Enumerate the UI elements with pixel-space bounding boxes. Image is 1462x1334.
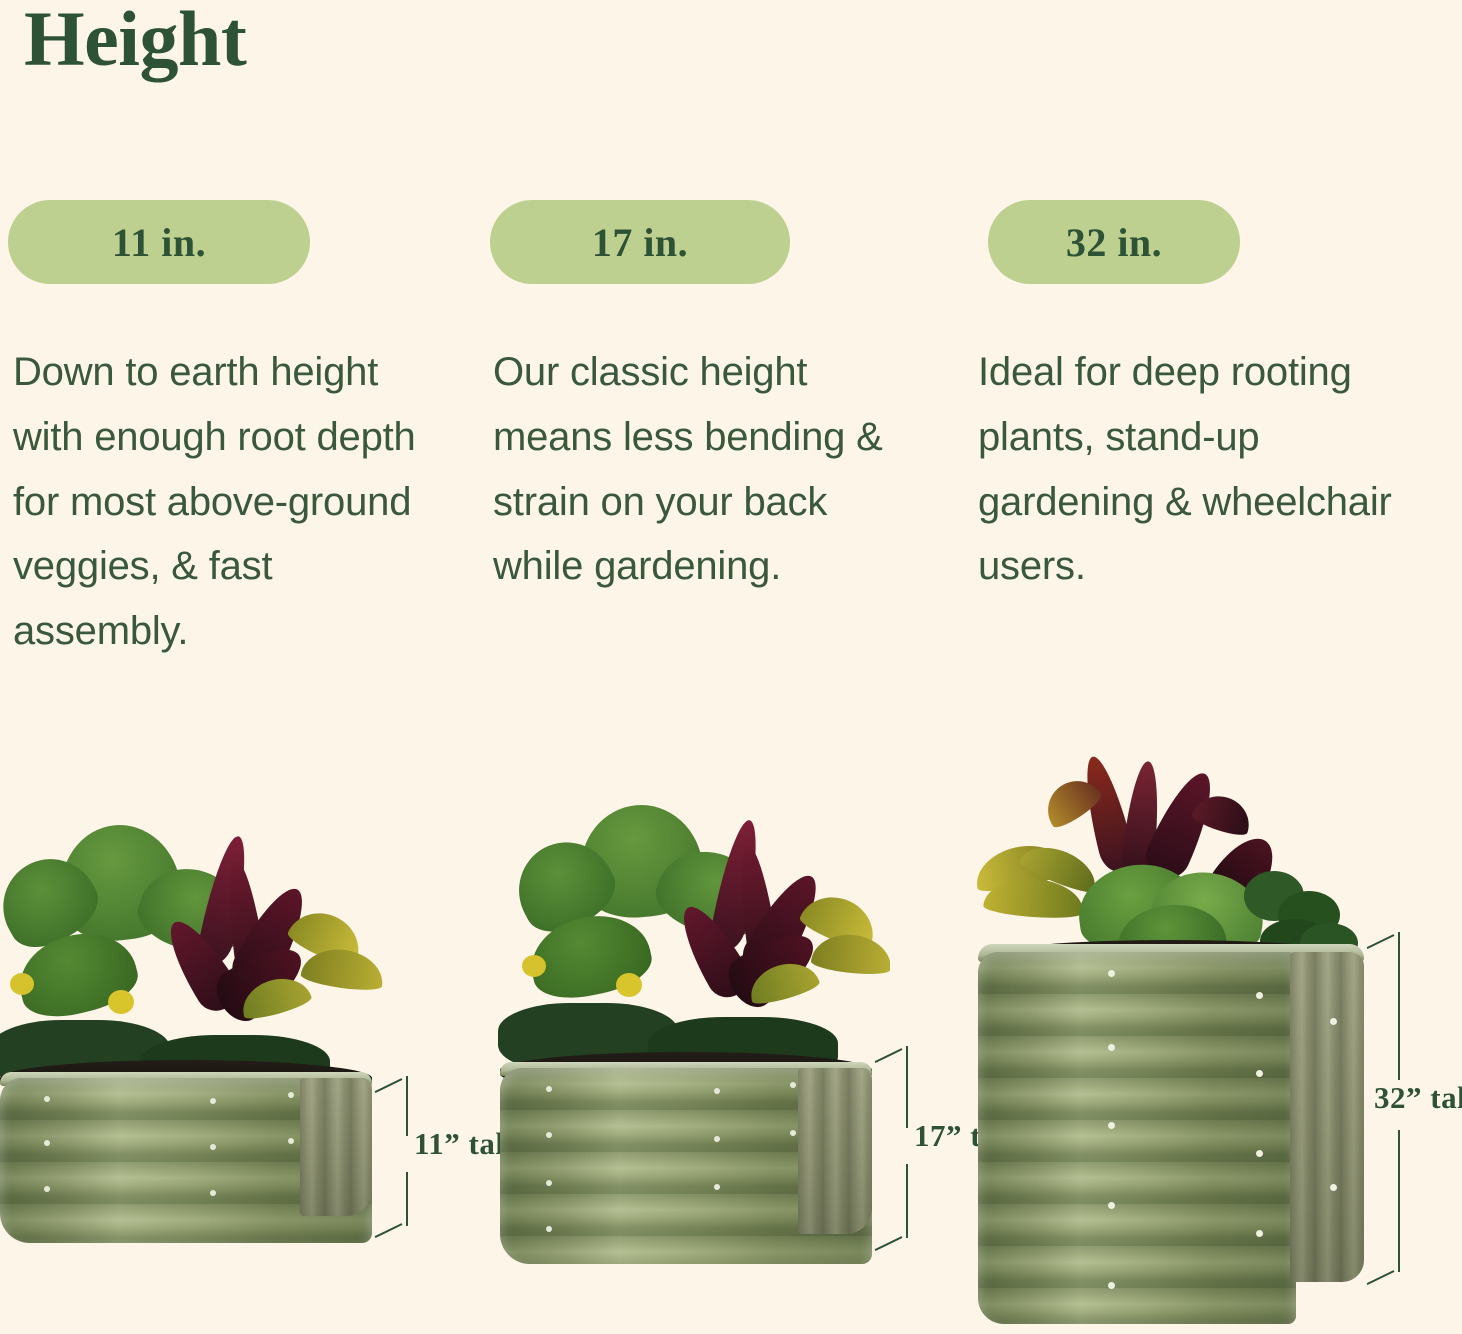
dimension-line-upper	[406, 1076, 408, 1136]
bolt-icon	[210, 1190, 216, 1196]
bolt-icon	[44, 1186, 50, 1192]
dimension-line-upper	[906, 1046, 908, 1128]
dimension-line-lower	[1398, 1130, 1400, 1272]
bolt-icon	[1256, 1230, 1263, 1237]
dimension-annotation-17in: 17” tall	[876, 1038, 936, 1248]
bolt-icon	[1108, 1202, 1115, 1209]
dimension-line-upper	[1398, 932, 1400, 1080]
dimension-line-lower	[406, 1172, 408, 1226]
dimension-label-32in: 32” tall	[1374, 1080, 1462, 1116]
bolt-icon	[210, 1098, 216, 1104]
bolt-icon	[1330, 1184, 1337, 1191]
garden-bed-image-17in: 17” tall	[480, 0, 920, 1334]
yellow-flower-icon	[108, 990, 134, 1014]
bed-side-panel	[300, 1078, 372, 1216]
bolt-icon	[546, 1180, 552, 1186]
bolt-icon	[546, 1086, 552, 1092]
garden-bed-image-11in: 11” tall	[0, 0, 440, 1334]
croton-leaf-icon	[810, 931, 890, 977]
raised-bed-17in	[500, 1068, 872, 1264]
raised-bed-11in	[0, 1078, 372, 1243]
dimension-cap-bottom	[875, 1236, 903, 1251]
yellow-flower-icon	[522, 955, 546, 977]
height-option-11in: 11 in. Down to earth height with enough …	[0, 0, 440, 1334]
dimension-cap-bottom	[375, 1223, 403, 1238]
yellow-flower-icon	[10, 973, 34, 995]
bolt-icon	[44, 1096, 50, 1102]
dimension-annotation-32in: 32” tall	[1368, 920, 1428, 1320]
bolt-icon	[714, 1184, 720, 1190]
height-option-17in: 17 in. Our classic height means less ben…	[480, 0, 920, 1334]
bolt-icon	[546, 1132, 552, 1138]
bolt-icon	[210, 1144, 216, 1150]
yellow-flower-icon	[616, 973, 642, 997]
bed-side-panel	[798, 1068, 872, 1234]
bolt-icon	[288, 1138, 294, 1144]
bolt-icon	[1256, 1070, 1263, 1077]
bolt-icon	[714, 1136, 720, 1142]
dimension-cap-top	[375, 1078, 403, 1093]
dimension-annotation-11in: 11” tall	[376, 1068, 436, 1233]
dimension-line-lower	[906, 1164, 908, 1238]
bolt-icon	[1256, 992, 1263, 999]
bolt-icon	[714, 1088, 720, 1094]
bolt-icon	[288, 1092, 294, 1098]
bolt-icon	[1108, 1044, 1115, 1051]
dimension-cap-top	[875, 1048, 903, 1063]
bed-side-panel	[1290, 952, 1364, 1282]
bolt-icon	[1330, 1018, 1337, 1025]
bed-front-panel	[978, 952, 1296, 1324]
bolt-icon	[546, 1226, 552, 1232]
garden-bed-image-32in: 32” tall	[960, 0, 1400, 1334]
bolt-icon	[790, 1082, 796, 1088]
dimension-cap-top	[1367, 934, 1395, 949]
bolt-icon	[44, 1140, 50, 1146]
raised-bed-32in	[978, 952, 1364, 1324]
bolt-icon	[1108, 1122, 1115, 1129]
bolt-icon	[1108, 1282, 1115, 1289]
bolt-icon	[790, 1130, 796, 1136]
dimension-cap-bottom	[1367, 1270, 1395, 1285]
bolt-icon	[1256, 1150, 1263, 1157]
bolt-icon	[1108, 970, 1115, 977]
height-option-32in: 32 in. Ideal for deep rooting plants, st…	[960, 0, 1400, 1334]
